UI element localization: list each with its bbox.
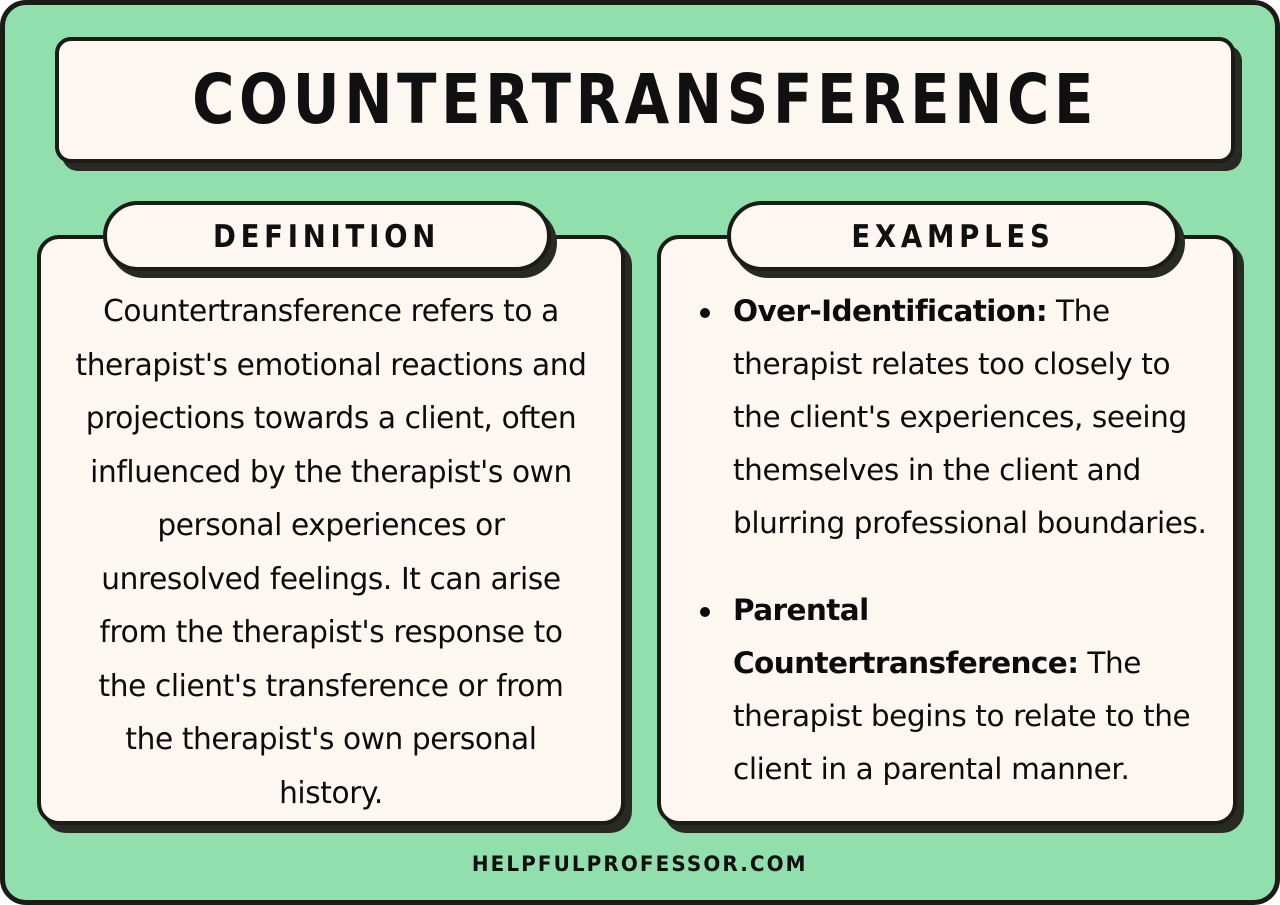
- content-columns: Countertransference refers to a therapis…: [5, 201, 1280, 836]
- definition-tab-label: DEFINITION: [213, 220, 440, 251]
- list-item: Parental Countertransference: The therap…: [687, 584, 1207, 796]
- example-term: Over-Identification:: [733, 294, 1047, 328]
- footer: HELPFULPROFESSOR.COM: [5, 852, 1275, 876]
- examples-tab: EXAMPLES: [727, 201, 1179, 271]
- examples-panel: Over-Identification: The therapist relat…: [657, 235, 1237, 825]
- page-title: COUNTERTRANSFERENCE: [192, 66, 1098, 134]
- list-item: Over-Identification: The therapist relat…: [687, 285, 1207, 550]
- examples-tab-label: EXAMPLES: [851, 220, 1054, 251]
- footer-attribution: HELPFULPROFESSOR.COM: [472, 852, 808, 876]
- examples-list: Over-Identification: The therapist relat…: [687, 285, 1207, 796]
- title-card: COUNTERTRANSFERENCE: [55, 37, 1235, 163]
- bullet-icon: [700, 607, 710, 617]
- example-description: The therapist relates too closely to the…: [733, 294, 1206, 540]
- bullet-icon: [700, 308, 710, 318]
- definition-panel: Countertransference refers to a therapis…: [37, 235, 625, 825]
- definition-text: Countertransference refers to a therapis…: [75, 285, 587, 811]
- definition-tab: DEFINITION: [103, 201, 551, 271]
- example-term: Parental Countertransference:: [733, 593, 1078, 680]
- examples-body: Over-Identification: The therapist relat…: [661, 285, 1233, 811]
- definition-body: Countertransference refers to a therapis…: [41, 285, 621, 811]
- infographic-canvas: COUNTERTRANSFERENCE Countertransference …: [0, 0, 1280, 905]
